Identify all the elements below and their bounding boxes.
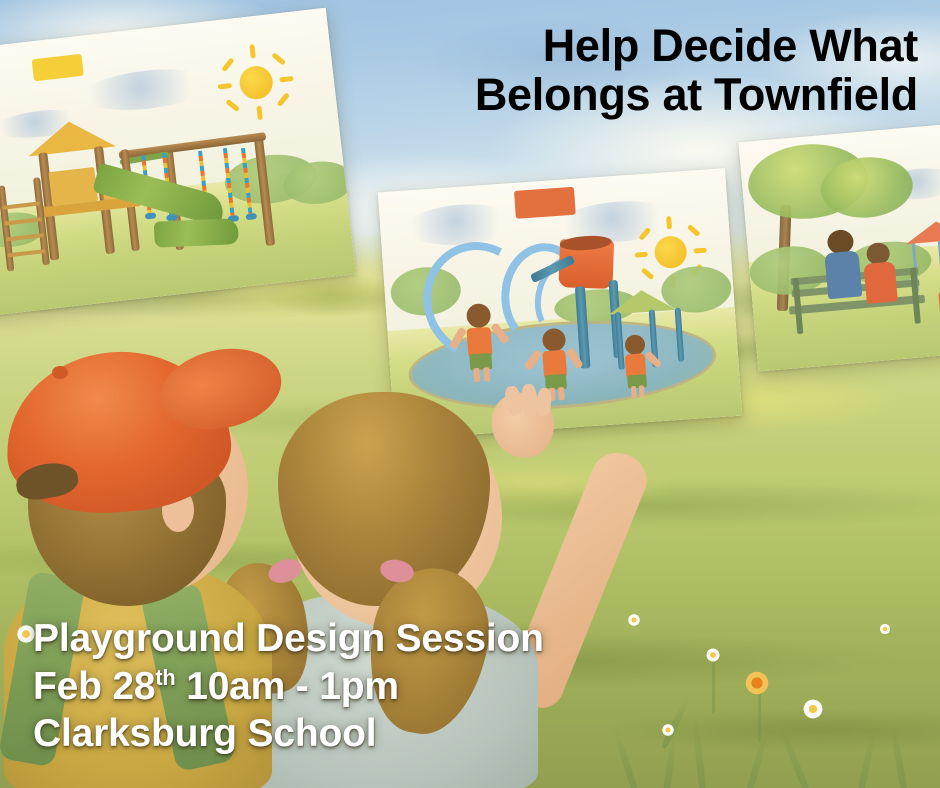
daisy-flower	[660, 722, 676, 738]
page-title: Help Decide What Belongs at Townfield	[475, 22, 918, 119]
flower-stem	[712, 656, 715, 714]
drawing-label-tag[interactable]	[514, 187, 576, 219]
event-date: Feb 28	[33, 665, 155, 708]
grass-blade	[888, 719, 909, 788]
park-bench-drawing[interactable]	[738, 122, 940, 371]
event-datetime: Feb 28th 10am - 1pm	[33, 663, 544, 711]
headline-line-1: Help Decide What	[475, 22, 918, 71]
grass-blade	[611, 727, 641, 788]
daisy-flower	[704, 646, 722, 664]
girl-finger	[521, 384, 538, 417]
child-playing	[458, 302, 503, 381]
cap-button	[52, 366, 68, 379]
grass-blade	[744, 732, 769, 788]
daisy-flower	[800, 696, 826, 722]
grass-blade	[856, 733, 877, 788]
event-time: 10am - 1pm	[186, 665, 399, 708]
flower-stem	[758, 692, 761, 742]
slide-lower	[154, 218, 239, 248]
adult-figure	[819, 228, 866, 311]
poster-canvas: Help Decide What Belongs at Townfield Pl…	[0, 0, 940, 788]
grass-blade	[691, 714, 707, 788]
adult-figure	[860, 241, 902, 312]
event-details: Playground Design Session Feb 28th 10am …	[33, 615, 544, 758]
playground-drawing[interactable]	[0, 8, 356, 316]
event-title: Playground Design Session	[33, 615, 544, 663]
daisy-flower	[626, 612, 642, 628]
sun-icon	[214, 40, 298, 124]
daisy-flower	[878, 622, 892, 636]
headline-line-2: Belongs at Townfield	[475, 71, 918, 120]
event-venue: Clarksburg School	[33, 710, 544, 758]
tower-rail	[48, 167, 98, 206]
orange-flower	[742, 668, 772, 698]
grass-blade	[777, 724, 813, 788]
date-ordinal-suffix: th	[155, 665, 175, 690]
